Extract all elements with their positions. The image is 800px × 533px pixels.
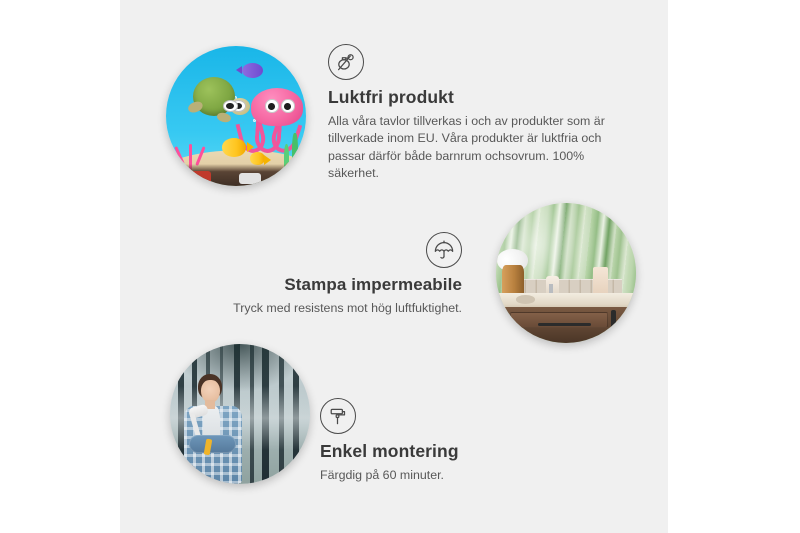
feature-description: Alla våra tavlor tillverkas i och av pro… xyxy=(328,113,620,183)
feature-title: Luktfri produkt xyxy=(328,87,620,108)
paint-roller-icon xyxy=(320,398,356,434)
no-odour-spray-bottle-icon xyxy=(328,44,364,80)
feature-image-bathroom xyxy=(496,203,636,343)
turtle-illustration xyxy=(188,77,247,125)
room-foreground xyxy=(166,164,306,186)
feature-block-odour-free: Luktfri produkt Alla våra tavlor tillver… xyxy=(328,44,620,183)
feature-block-easy-install: Enkel montering Färgdig på 60 minuter. xyxy=(320,398,560,484)
feature-block-waterproof: Stampa impermeabile Tryck med resistens … xyxy=(212,232,462,317)
feature-image-underwater xyxy=(166,46,306,186)
wooden-vanity xyxy=(502,307,636,343)
feature-icon-row xyxy=(328,44,620,80)
feature-icon-row xyxy=(212,232,462,268)
product-feature-banner: Luktfri produkt Alla våra tavlor tillver… xyxy=(0,0,800,533)
feature-title: Enkel montering xyxy=(320,441,560,462)
umbrella-icon xyxy=(426,232,462,268)
feature-icon-row xyxy=(320,398,560,434)
woman-with-roller xyxy=(181,372,259,484)
feature-description: Färgdig på 60 minuter. xyxy=(320,467,560,484)
feature-image-installer xyxy=(170,344,310,484)
feature-title: Stampa impermeabile xyxy=(212,275,462,295)
decor-bowl xyxy=(516,295,536,303)
feature-description: Tryck med resistens mot hög luftfuktighe… xyxy=(212,300,462,317)
yellow-fish-icon xyxy=(222,138,246,156)
